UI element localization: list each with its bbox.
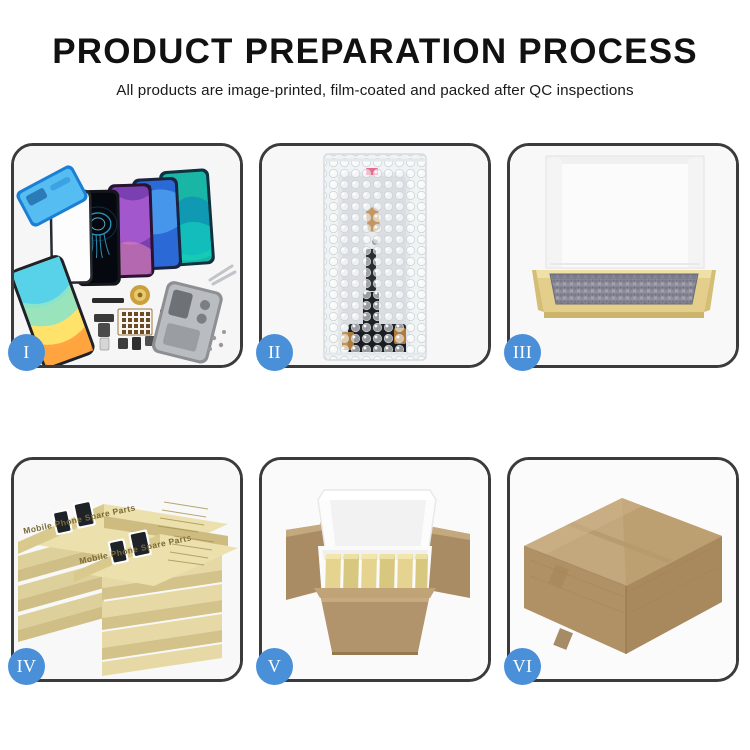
process-step-4: Mobile Phone Spare Parts Mobile Phone Sp… (11, 457, 243, 682)
process-step-5: V (259, 457, 491, 682)
step-badge-5: V (256, 648, 293, 685)
page-subtitle: All products are image-printed, film-coa… (0, 82, 750, 99)
process-step-grid: I (11, 143, 739, 682)
header: PRODUCT PREPARATION PROCESS All products… (0, 0, 750, 99)
step-badge-4: IV (8, 648, 45, 685)
step-badge-2: II (256, 334, 293, 371)
step-badge-1: I (8, 334, 45, 371)
step-badge-3: III (504, 334, 541, 371)
step-5-image (262, 460, 488, 679)
page-title: PRODUCT PREPARATION PROCESS (0, 34, 750, 71)
step-3-image (510, 146, 736, 365)
product-preparation-page: PRODUCT PREPARATION PROCESS All products… (0, 0, 750, 750)
process-step-6: VI (507, 457, 739, 682)
step-1-image (14, 146, 240, 365)
process-step-3: III (507, 143, 739, 368)
process-step-2: II (259, 143, 491, 368)
step-4-image: Mobile Phone Spare Parts Mobile Phone Sp… (14, 460, 240, 679)
step-badge-6: VI (504, 648, 541, 685)
process-step-1: I (11, 143, 243, 368)
step-6-image (510, 460, 736, 679)
step-2-image (262, 146, 488, 365)
